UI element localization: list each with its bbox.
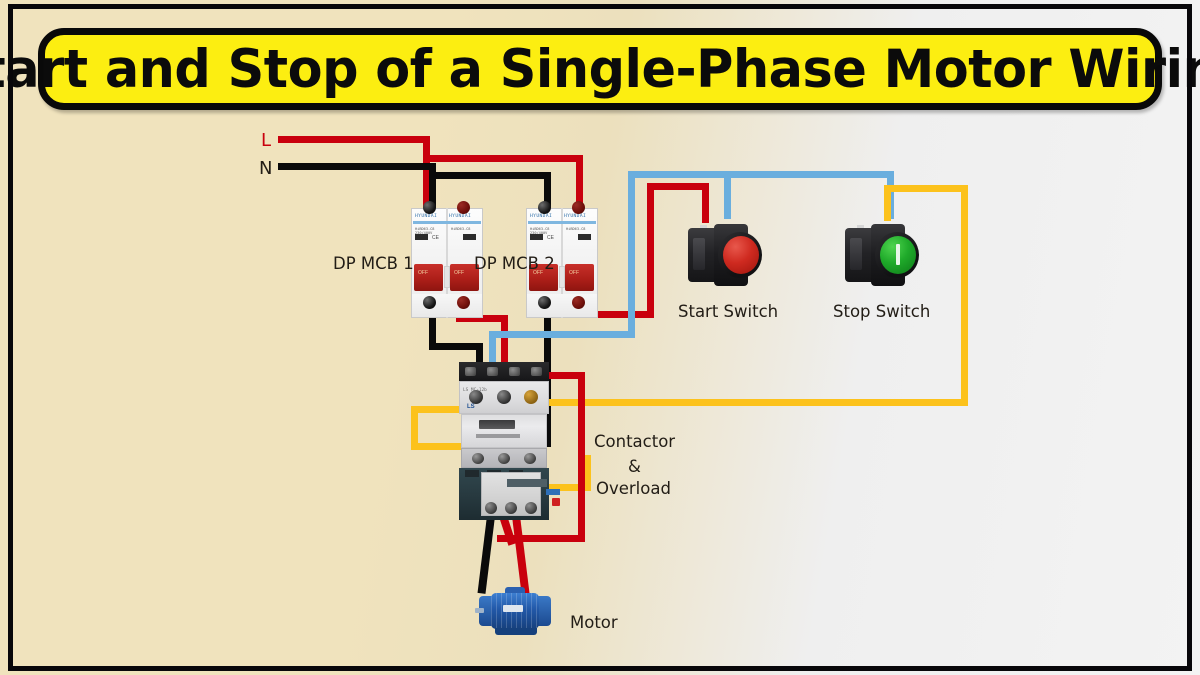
dp-mcb-1-label: DP MCB 1 <box>333 251 414 277</box>
supply-neutral-label: N <box>259 155 272 183</box>
wire-control-blue-top <box>628 171 894 178</box>
mcb-ce-mark: CE <box>547 235 554 241</box>
contactor-overload-label-line3: Overload <box>596 476 671 502</box>
overload-current-dial[interactable] <box>507 479 547 487</box>
wire-motor-lead-red <box>512 516 530 596</box>
contactor-top-screw-4 <box>531 367 542 376</box>
mcb-terminal-top-neutral <box>538 201 551 214</box>
motor-device[interactable] <box>475 587 561 639</box>
mcb-blue-stripe <box>528 221 596 224</box>
overload-top-lug-1 <box>465 470 479 477</box>
wire-neutral-black-branch <box>429 172 551 179</box>
contactor-top-screw-1 <box>465 367 476 376</box>
start-switch-label: Start Switch <box>678 299 778 325</box>
contactor-bottom-screw-1 <box>472 453 484 464</box>
mcb-marking-block <box>415 234 428 240</box>
motor-label: Motor <box>570 610 618 636</box>
wire-control-yellow-top <box>884 185 968 192</box>
wire-motor-lead-black <box>478 516 495 594</box>
contactor-device[interactable]: LS MC-12b LS <box>459 362 549 470</box>
mcb-lever-link[interactable] <box>444 266 450 288</box>
title-banner: Start and Stop of a Single-Phase Motor W… <box>38 28 1162 110</box>
mcb-terminal-bottom-line <box>572 296 585 309</box>
contactor-coil-terminal-a2 <box>524 390 538 404</box>
motor-base-foot <box>495 628 537 635</box>
mcb-spec-text-2: HiBD63-C8 <box>451 227 470 231</box>
contactor-overload-label-line1: Contactor <box>594 429 675 455</box>
wire-line-red-branch <box>423 155 583 162</box>
wire-control-yellow-right-drop <box>961 185 968 405</box>
contactor-aux-terminal <box>497 390 511 404</box>
contactor-lower-terminal-bar <box>461 448 547 468</box>
mcb-terminal-bottom-neutral <box>423 296 436 309</box>
contactor-brand-logo: LS <box>467 404 475 410</box>
wire-start-switch-drop <box>702 183 709 223</box>
wire-mcb1-neutral-run <box>429 343 483 350</box>
mcb-spec-text-2: HiBD63-C8 <box>566 227 585 231</box>
wire-control-yellow-bottom-run <box>538 399 968 406</box>
mcb-lever-link[interactable] <box>559 266 565 288</box>
stop-switch-label: Stop Switch <box>833 299 930 325</box>
wire-control-blue-left-drop <box>628 171 635 338</box>
contactor-mid-body <box>461 414 547 448</box>
wire-control-yellow-right-return <box>584 455 591 491</box>
page-title: Start and Stop of a Single-Phase Motor W… <box>0 43 1200 96</box>
mcb-toggle-left[interactable]: OFF <box>414 264 443 291</box>
contactor-bottom-screw-3 <box>524 453 536 464</box>
mcb-ce-mark: CE <box>432 235 439 241</box>
mcb-base <box>527 294 597 317</box>
contactor-label-slot <box>476 434 520 438</box>
mcb-terminal-top-neutral <box>423 201 436 214</box>
wire-neutral-black-main <box>278 163 436 170</box>
motor-nameplate <box>503 605 523 612</box>
mcb-terminal-top-line <box>572 201 585 214</box>
push-button-cap-red[interactable] <box>723 236 759 274</box>
wire-control-blue-start-drop <box>724 171 731 219</box>
contactor-top-screw-3 <box>509 367 520 376</box>
contactor-window-slot <box>479 420 515 429</box>
wire-start-switch-top <box>647 183 709 190</box>
mcb-brand-label-2: HYUNDAI <box>564 214 586 219</box>
power-on-symbol-icon <box>896 244 900 265</box>
diagram-canvas: HYUNDAI HYUNDAI HiBD63-C8230/400V6000 CE… <box>0 0 1200 675</box>
overload-bottom-terminal-2 <box>505 502 517 514</box>
dp-mcb-2-label: DP MCB 2 <box>474 251 555 277</box>
start-switch-device[interactable] <box>688 222 762 288</box>
stop-switch-device[interactable] <box>845 222 919 288</box>
wire-line-red-main <box>278 136 430 143</box>
wire-contactor-line-down <box>578 372 585 542</box>
mcb-blue-stripe <box>413 221 481 224</box>
mcb-brand-label-2: HYUNDAI <box>449 214 471 219</box>
contactor-bottom-screw-2 <box>498 453 510 464</box>
wire-control-blue-lower-run <box>489 331 635 338</box>
mcb-base <box>412 294 482 317</box>
mcb-terminal-bottom-neutral <box>538 296 551 309</box>
overload-test-tab[interactable] <box>546 489 560 495</box>
overload-relay-device[interactable] <box>459 468 549 520</box>
contactor-coil-terminal-a1 <box>469 390 483 404</box>
mcb-brand-label: HYUNDAI <box>530 214 552 219</box>
contactor-upper-face: LS MC-12b LS <box>459 381 549 414</box>
dp-mcb-1[interactable]: HYUNDAI HYUNDAI HiBD63-C8230/400V6000 CE… <box>411 208 483 318</box>
supply-line-label: L <box>261 127 271 155</box>
contactor-top-screw-2 <box>487 367 498 376</box>
overload-bottom-terminal-1 <box>485 502 497 514</box>
mcb-terminal-top-line <box>457 201 470 214</box>
mcb-brand-label: HYUNDAI <box>415 214 437 219</box>
mcb-terminal-bottom-line <box>457 296 470 309</box>
mcb-toggle-right[interactable]: OFF <box>565 264 594 291</box>
wire-mcb2-line-up <box>647 183 654 318</box>
overload-reset-button[interactable] <box>552 498 560 506</box>
overload-bottom-terminal-3 <box>525 502 537 514</box>
mcb-marking-block <box>530 234 543 240</box>
mcb-marking-block-2 <box>578 234 591 240</box>
motor-shaft <box>475 608 484 613</box>
mcb-marking-block-2 <box>463 234 476 240</box>
